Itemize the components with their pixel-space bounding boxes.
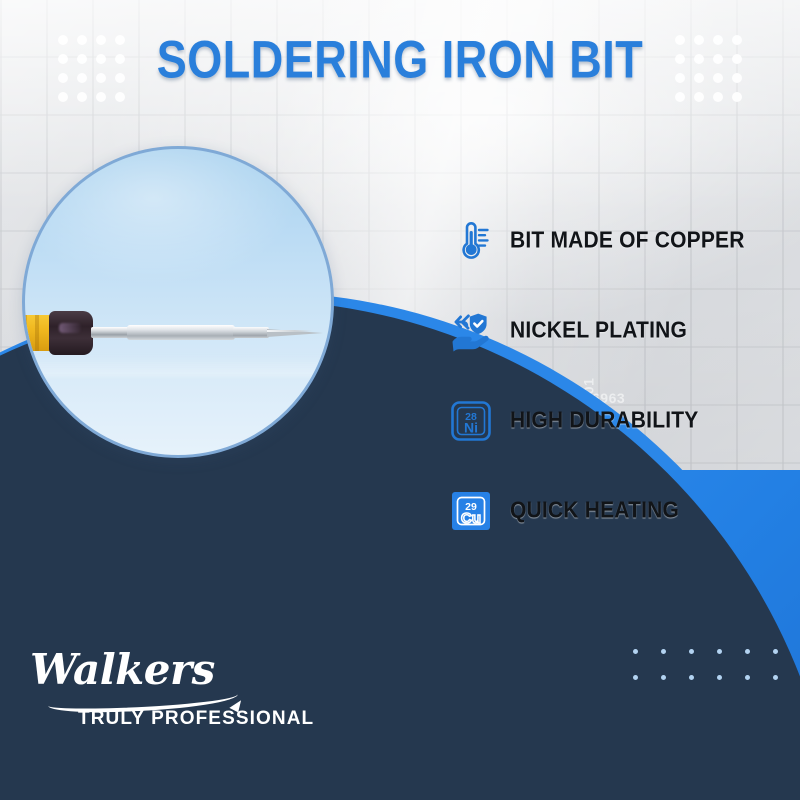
iron-reflection [22, 355, 327, 377]
svg-text:Ni: Ni [464, 420, 478, 436]
element-copper-icon: 29 Cu [448, 488, 494, 534]
dot [58, 92, 68, 102]
dot [77, 92, 87, 102]
dot [689, 675, 694, 680]
feature-item-bit-made-of-copper: BIT MADE OF COPPER [448, 196, 768, 286]
dot [661, 649, 666, 654]
iron-handle-rib [35, 315, 39, 351]
dot [96, 92, 106, 102]
bottom-dot-grid-icon [633, 649, 778, 680]
feature-label: QUICK HEATING [510, 498, 679, 524]
dot [773, 675, 778, 680]
feature-label: NICKEL PLATING [510, 318, 687, 344]
iron-tip-highlight [267, 330, 313, 332]
iron-collar [49, 311, 93, 355]
iron-shaft-segment [233, 327, 269, 338]
page-title: SOLDERING IRON BIT [0, 29, 800, 90]
dot [745, 675, 750, 680]
brand-logo: Walkers TRULY PROFESSIONAL [26, 649, 326, 730]
dot [115, 92, 125, 102]
feature-label: BIT MADE OF COPPER [510, 228, 745, 254]
dot [689, 649, 694, 654]
dot [713, 92, 723, 102]
dot [675, 92, 685, 102]
thermometer-icon [448, 218, 494, 264]
dot [633, 649, 638, 654]
dot [633, 675, 638, 680]
hand-shield-check-icon [448, 308, 494, 354]
element-nickel-icon: 28 Ni [448, 398, 494, 444]
brand-name: Walkers [26, 649, 326, 691]
svg-text:Cu: Cu [461, 510, 481, 527]
feature-item-quick-heating: 29 Cu QUICK HEATING [448, 466, 768, 556]
header: SOLDERING IRON BIT [0, 0, 800, 122]
circle-gloss-overlay [25, 149, 331, 455]
feature-label: HIGH DURABILITY [510, 408, 699, 434]
dot [745, 649, 750, 654]
dot [773, 649, 778, 654]
feature-item-nickel-plating: NICKEL PLATING [448, 286, 768, 376]
navy-footer-strip [0, 730, 800, 800]
feature-list: BIT MADE OF COPPER NICKEL PLATING [448, 196, 768, 556]
soldering-iron-illustration [22, 303, 327, 361]
iron-shaft-segment [91, 327, 129, 338]
infographic-poster: C4390R2C252D1K276AQV260 PAO9V2 L8201R280… [0, 0, 800, 800]
iron-collar-highlight [59, 323, 81, 333]
feature-item-high-durability: 28 Ni HIGH DURABILITY [448, 376, 768, 466]
dot [717, 649, 722, 654]
dot [694, 92, 704, 102]
dot [732, 92, 742, 102]
iron-shaft-segment [127, 325, 235, 340]
product-image-circle [22, 146, 334, 458]
dot [661, 675, 666, 680]
dot [717, 675, 722, 680]
